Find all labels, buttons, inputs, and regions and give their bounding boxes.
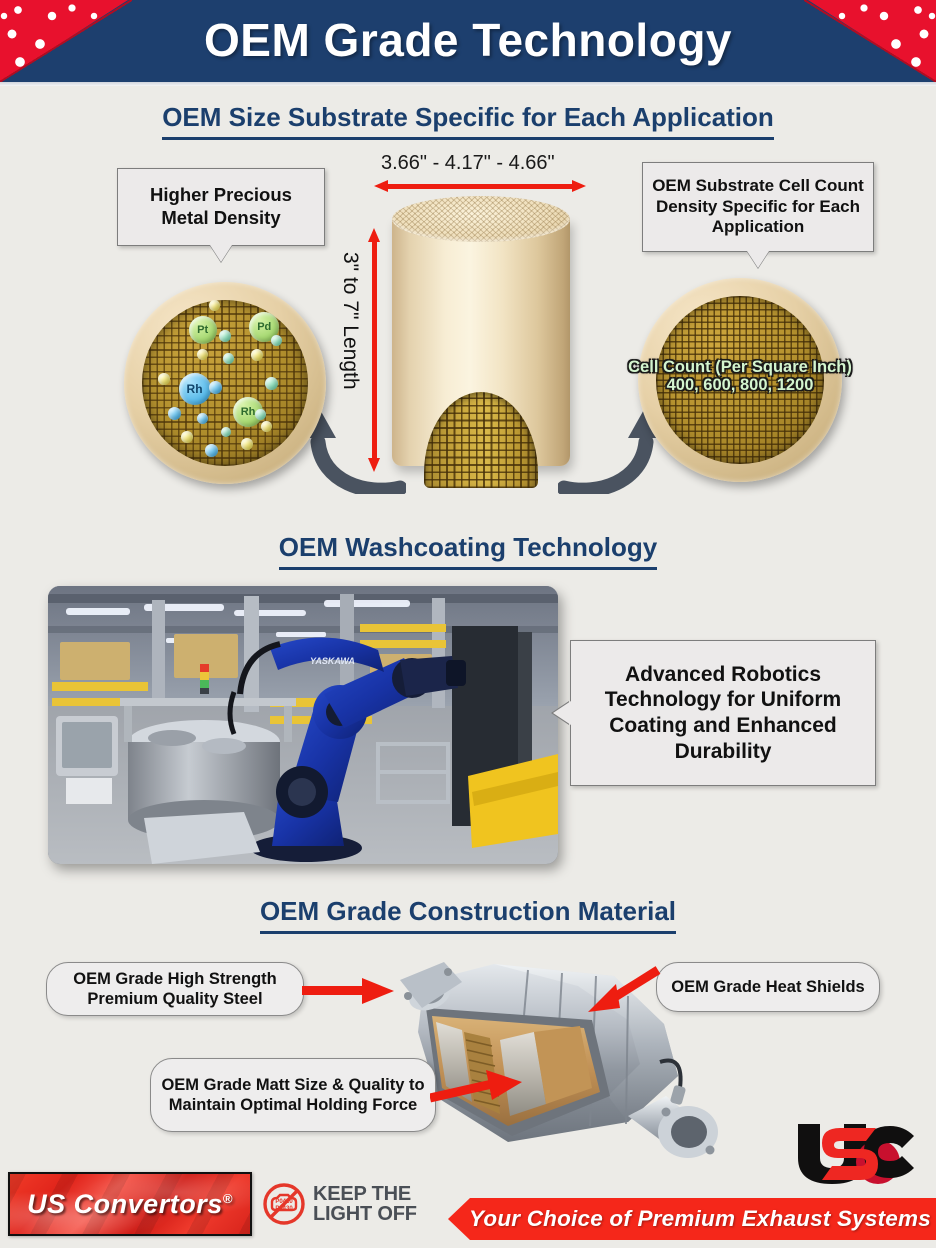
metal-dot bbox=[223, 353, 234, 364]
keep-light-off-badge: P0420 P0430 KEEP THE LIGHT OFF bbox=[262, 1182, 417, 1226]
substrate-cylinder-graphic bbox=[392, 196, 570, 488]
usc-logo bbox=[794, 1118, 920, 1191]
metal-bubble-rh-blue: Rh bbox=[179, 373, 211, 405]
diameter-arrow-icon bbox=[374, 180, 586, 192]
page-title: OEM Grade Technology bbox=[0, 0, 936, 80]
metal-dot bbox=[197, 413, 208, 424]
page-header: OEM Grade Technology bbox=[0, 0, 936, 82]
header-underline bbox=[0, 82, 936, 86]
callout-matt-size: OEM Grade Matt Size & Quality to Maintai… bbox=[150, 1058, 436, 1132]
callout-tail-icon bbox=[210, 245, 232, 262]
substrate-circle-precious-metals: Pt Pd Rh Rh bbox=[124, 282, 326, 484]
metal-dot bbox=[197, 349, 208, 360]
section-title-washcoating: OEM Washcoating Technology bbox=[0, 532, 936, 570]
keep-light-off-text: KEEP THE LIGHT OFF bbox=[313, 1184, 417, 1224]
callout-heat-shields: OEM Grade Heat Shields bbox=[656, 962, 880, 1012]
metal-dot bbox=[205, 444, 218, 457]
metal-dot bbox=[209, 300, 220, 311]
callout-advanced-robotics: Advanced Robotics Technology for Uniform… bbox=[570, 640, 876, 786]
red-arrow-matt-icon bbox=[430, 1068, 522, 1104]
red-arrow-steel-icon bbox=[302, 976, 394, 1006]
svg-text:YASKAWA: YASKAWA bbox=[310, 656, 355, 666]
callout-premium-steel: OEM Grade High Strength Premium Quality … bbox=[46, 962, 304, 1016]
brand-logo-us-convertors[interactable]: US Convertors® bbox=[8, 1172, 252, 1236]
metal-dot bbox=[209, 381, 222, 394]
section-title-substrate: OEM Size Substrate Specific for Each App… bbox=[0, 102, 936, 140]
metal-dot bbox=[181, 431, 193, 443]
red-arrow-heat-shield-icon bbox=[586, 966, 664, 1014]
brand-logo-text: US Convertors® bbox=[27, 1189, 233, 1220]
callout-tail-icon bbox=[747, 251, 769, 268]
diameter-label: 3.66" - 4.17" - 4.66" bbox=[381, 152, 555, 175]
callout-cell-count-density: OEM Substrate Cell Count Density Specifi… bbox=[642, 162, 874, 252]
no-check-engine-icon: P0420 P0430 bbox=[262, 1182, 306, 1226]
callout-tail-icon bbox=[553, 701, 571, 725]
callout-precious-metal-density: Higher Precious Metal Density bbox=[117, 168, 325, 246]
tagline-banner: Your Choice of Premium Exhaust Systems bbox=[448, 1198, 936, 1240]
length-label: 3" to 7" Length bbox=[338, 252, 362, 390]
metal-dot bbox=[271, 335, 282, 346]
metal-bubble-pt: Pt bbox=[189, 316, 217, 344]
cell-count-annotation: Cell Count (Per Square Inch) 400, 600, 8… bbox=[608, 358, 872, 394]
tagline-text: Your Choice of Premium Exhaust Systems bbox=[453, 1206, 931, 1232]
metal-dot bbox=[251, 349, 263, 361]
washcoating-factory-photo: YASKAWA bbox=[48, 586, 558, 864]
metal-dot bbox=[241, 438, 253, 450]
section-title-construction: OEM Grade Construction Material bbox=[0, 896, 936, 934]
